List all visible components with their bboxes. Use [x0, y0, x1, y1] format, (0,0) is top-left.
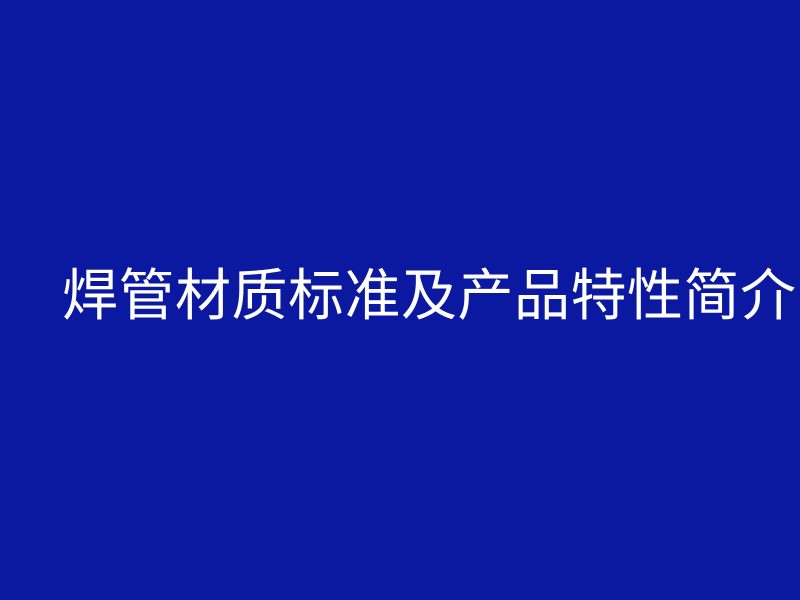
title-text-block: 焊管材质标准及产品特性简介 — [0, 0, 800, 600]
presentation-slide: 焊管材质标准及产品特性简介 — [0, 0, 800, 600]
slide-title: 焊管材质标准及产品特性简介 — [62, 265, 797, 328]
